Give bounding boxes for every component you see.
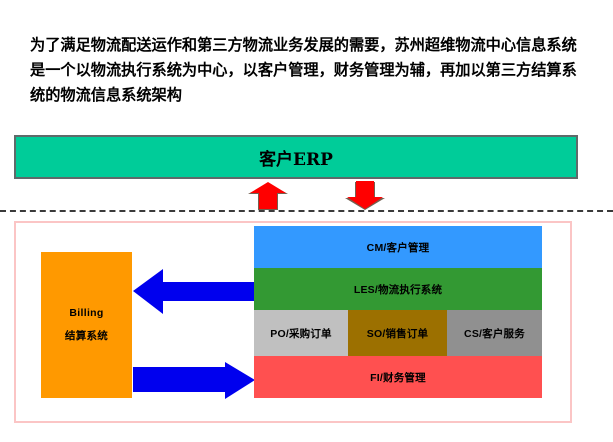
module-label-po: PO/采购订单 (270, 326, 332, 341)
stack-row-les[interactable]: LES/物流执行系统 (254, 268, 542, 310)
slide-canvas: 为了满足物流配送运作和第三方物流业务发展的需要，苏州超维物流中心信息系统是一个以… (0, 0, 613, 442)
stack-row-cm[interactable]: CM/客户管理 (254, 226, 542, 268)
billing-system-box[interactable]: Billing 结算系统 (41, 252, 132, 398)
stack-label-cm: CM/客户管理 (367, 240, 430, 255)
billing-label-cn: 结算系统 (65, 328, 108, 343)
stack-label-les: LES/物流执行系统 (354, 282, 442, 297)
red-arrow-up-icon (240, 180, 296, 212)
section-divider (0, 210, 613, 212)
erp-box[interactable]: 客户ERP (14, 135, 578, 179)
erp-label: 客户ERP (259, 145, 333, 170)
system-stack: CM/客户管理 LES/物流执行系统 PO/采购订单 SO/销售订单 CS/客户… (254, 226, 542, 398)
red-arrow-down-icon (337, 180, 393, 212)
module-cs[interactable]: CS/客户服务 (447, 310, 542, 356)
module-label-cs: CS/客户服务 (464, 326, 525, 341)
blue-arrow-left-icon (133, 269, 255, 314)
page-title: 为了满足物流配送运作和第三方物流业务发展的需要，苏州超维物流中心信息系统是一个以… (30, 33, 585, 108)
blue-arrow-right-icon (133, 362, 255, 399)
module-so[interactable]: SO/销售订单 (348, 310, 447, 356)
billing-label-en: Billing (69, 307, 103, 319)
module-label-so: SO/销售订单 (367, 326, 429, 341)
stack-row-fi[interactable]: FI/财务管理 (254, 356, 542, 398)
module-po[interactable]: PO/采购订单 (254, 310, 348, 356)
stack-row-modules: PO/采购订单 SO/销售订单 CS/客户服务 (254, 310, 542, 356)
stack-label-fi: FI/财务管理 (370, 370, 426, 385)
